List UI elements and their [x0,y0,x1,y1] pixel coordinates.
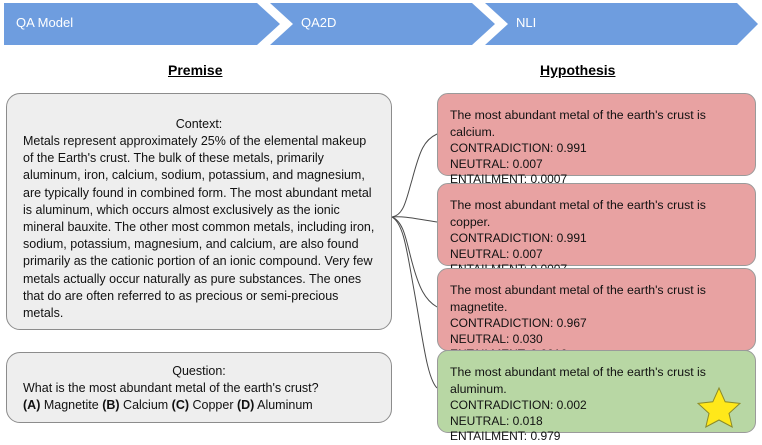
connector-to-card-3 [392,217,437,388]
question-option-label: Aluminum [254,398,312,412]
score-contradiction: CONTRADICTION: 0.991 [450,231,743,247]
premise-column-heading: Premise [168,62,222,78]
question-option-label: Calcium [120,398,172,412]
question-option-label: Magnetite [40,398,102,412]
connector-to-card-1 [392,217,437,222]
question-panel: Question: What is the most abundant meta… [6,352,392,423]
connector-to-card-2 [392,217,437,307]
hypothesis-card[interactable]: The most abundant metal of the earth's c… [437,268,756,351]
question-option-key: (A) [23,398,40,412]
hypothesis-statement: The most abundant metal of the earth's c… [450,282,743,315]
question-option-label: Copper [189,398,237,412]
pipeline-shape [4,3,758,45]
hypothesis-card[interactable]: The most abundant metal of the earth's c… [437,350,756,433]
pipeline-stage-qa2d[interactable]: QA2D [301,15,336,31]
score-neutral: NEUTRAL: 0.030 [450,332,743,348]
question-option-key: (D) [237,398,254,412]
hypothesis-statement: The most abundant metal of the earth's c… [450,197,743,230]
score-contradiction: CONTRADICTION: 0.991 [450,141,743,157]
hypothesis-card[interactable]: The most abundant metal of the earth's c… [437,183,756,266]
pipeline-body [4,3,758,45]
question-option-key: (C) [172,398,189,412]
hypothesis-column-heading: Hypothesis [540,62,615,78]
score-entailment: ENTAILMENT: 0.979 [450,429,743,445]
pipeline-stage-nli[interactable]: NLI [516,15,536,31]
context-caption: Context: [23,116,375,132]
question-options: (A) Magnetite (B) Calcium (C) Copper (D)… [23,397,375,414]
score-neutral: NEUTRAL: 0.007 [450,247,743,263]
question-caption: Question: [23,363,375,379]
score-contradiction: CONTRADICTION: 0.967 [450,316,743,332]
question-text: What is the most abundant metal of the e… [23,380,375,397]
connector-to-card-0 [392,134,437,217]
context-text: Metals represent approximately 25% of th… [23,133,375,322]
correct-answer-star-icon [697,386,741,428]
context-panel: Context: Metals represent approximately … [6,93,392,330]
pipeline-stage-qa-model[interactable]: QA Model [16,15,73,31]
hypothesis-statement: The most abundant metal of the earth's c… [450,107,743,140]
score-neutral: NEUTRAL: 0.007 [450,157,743,173]
pipeline-banner: QA Model QA2D NLI [4,3,758,45]
question-option-key: (B) [102,398,119,412]
hypothesis-card[interactable]: The most abundant metal of the earth's c… [437,93,756,176]
